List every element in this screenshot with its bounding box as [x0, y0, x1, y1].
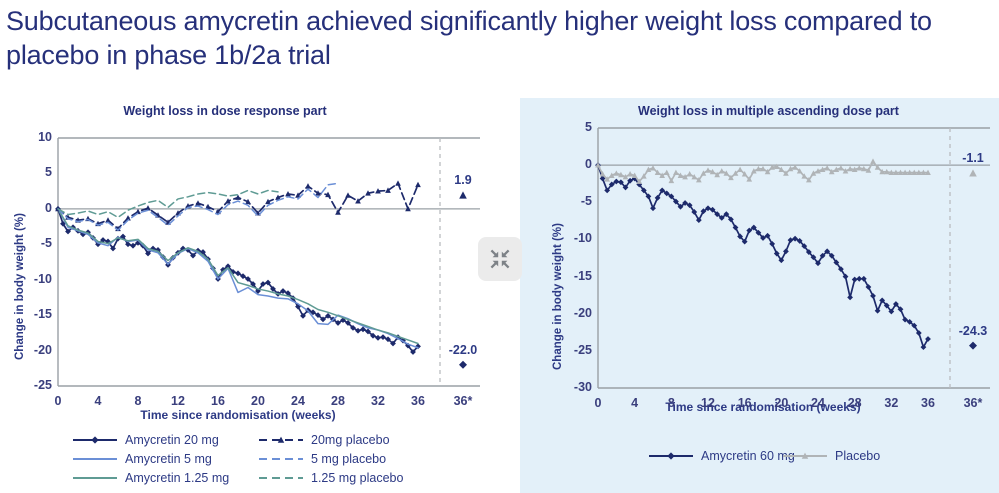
x-tick-left: 12 — [156, 394, 200, 408]
page-title: Subcutaneous amycretin achieved signific… — [6, 4, 966, 72]
legend-item-left-0[interactable]: Amycretin 20 mg — [72, 433, 258, 447]
y-tick-right: -30 — [556, 380, 592, 394]
legend-label: 20mg placebo — [311, 433, 390, 447]
y-tick-right: -5 — [556, 194, 592, 208]
legend-swatch-icon — [258, 471, 304, 485]
y-tick-left: 10 — [18, 130, 52, 144]
chart-panel-multiple-ascending-dose: Weight loss in multiple ascending dose p… — [520, 98, 999, 493]
x-tick-left: 20 — [236, 394, 280, 408]
legend-item-left-1[interactable]: Amycretin 5 mg — [72, 452, 258, 466]
legend-item-left-5[interactable]: 1.25 mg placebo — [258, 471, 403, 485]
legend-swatch-icon — [258, 452, 304, 466]
slide-root: Subcutaneous amycretin achieved signific… — [0, 0, 999, 493]
legend-row: Amycretin 5 mg5 mg placebo — [72, 449, 403, 468]
x-tick-left: 0 — [36, 394, 80, 408]
legend-item-left-3[interactable]: 20mg placebo — [258, 433, 390, 447]
y-tick-right: -20 — [556, 306, 592, 320]
x-tick-left: 36* — [441, 394, 485, 408]
x-tick-left: 8 — [116, 394, 160, 408]
y-tick-right: -10 — [556, 231, 592, 245]
x-tick-right: 36 — [906, 396, 950, 410]
chart-title-left: Weight loss in dose response part — [0, 104, 520, 118]
x-axis-label-left: Time since randomisation (weeks) — [58, 408, 418, 422]
legend-right: Amycretin 60 mgPlacebo — [648, 446, 880, 465]
y-tick-right: 0 — [556, 157, 592, 171]
legend-swatch-icon — [258, 433, 304, 447]
chart-panel-dose-response: Weight loss in dose response part Change… — [0, 98, 520, 493]
y-tick-left: -10 — [18, 272, 52, 286]
y-tick-right: -25 — [556, 343, 592, 357]
legend-label: Amycretin 1.25 mg — [125, 471, 229, 485]
legend-item-right-1[interactable]: Placebo — [782, 449, 880, 463]
legend-label: Amycretin 5 mg — [125, 452, 212, 466]
x-tick-left: 32 — [356, 394, 400, 408]
x-tick-left: 24 — [276, 394, 320, 408]
legend-item-left-4[interactable]: 5 mg placebo — [258, 452, 386, 466]
legend-swatch-icon — [72, 452, 118, 466]
legend-left: Amycretin 20 mg20mg placeboAmycretin 5 m… — [72, 430, 403, 487]
x-tick-left: 28 — [316, 394, 360, 408]
chart-title-right: Weight loss in multiple ascending dose p… — [520, 104, 999, 118]
y-tick-right: 5 — [556, 120, 592, 134]
legend-item-left-2[interactable]: Amycretin 1.25 mg — [72, 471, 258, 485]
legend-label: 5 mg placebo — [311, 452, 386, 466]
y-tick-left: 5 — [18, 165, 52, 179]
endpoint-annotation-left: -22.0 — [439, 343, 487, 357]
legend-row: Amycretin 20 mg20mg placebo — [72, 430, 403, 449]
y-tick-left: -20 — [18, 343, 52, 357]
legend-row: Amycretin 60 mgPlacebo — [648, 446, 880, 465]
endpoint-annotation-left: 1.9 — [439, 173, 487, 187]
y-tick-left: -15 — [18, 307, 52, 321]
endpoint-annotation-right: -24.3 — [949, 324, 997, 338]
legend-label: 1.25 mg placebo — [311, 471, 403, 485]
x-tick-right: 36* — [951, 396, 995, 410]
legend-label: Placebo — [835, 449, 880, 463]
x-tick-left: 4 — [76, 394, 120, 408]
x-tick-left: 36 — [396, 394, 440, 408]
y-axis-label-left: Change in body weight (%) — [14, 213, 26, 360]
legend-row: Amycretin 1.25 mg1.25 mg placebo — [72, 468, 403, 487]
collapse-arrows-icon — [487, 246, 513, 272]
x-tick-left: 16 — [196, 394, 240, 408]
legend-item-right-0[interactable]: Amycretin 60 mg — [648, 449, 782, 463]
legend-swatch-icon — [648, 449, 694, 463]
endpoint-annotation-right: -1.1 — [949, 151, 997, 165]
y-tick-right: -15 — [556, 269, 592, 283]
legend-label: Amycretin 60 mg — [701, 449, 795, 463]
legend-label: Amycretin 20 mg — [125, 433, 219, 447]
legend-swatch-icon — [72, 433, 118, 447]
collapse-button[interactable] — [478, 237, 522, 281]
y-tick-left: 0 — [18, 201, 52, 215]
legend-swatch-icon — [782, 449, 828, 463]
y-tick-left: -5 — [18, 236, 52, 250]
y-tick-left: -25 — [18, 378, 52, 392]
legend-swatch-icon — [72, 471, 118, 485]
